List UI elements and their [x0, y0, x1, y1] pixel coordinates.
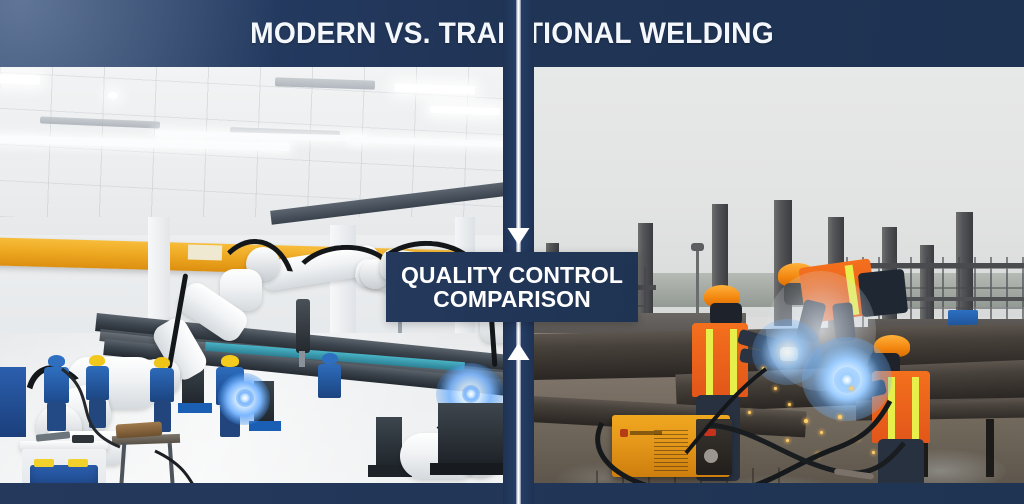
beam-support-stand — [376, 417, 402, 469]
welding-arc-core — [834, 367, 860, 393]
label-line-1: QUALITY CONTROL — [401, 263, 623, 287]
label-line-2: COMPARISON — [433, 287, 591, 311]
yellow-tool — [68, 459, 88, 467]
yellow-tool — [34, 459, 54, 467]
floor-cable — [60, 367, 180, 457]
floor-cable — [150, 447, 350, 483]
ceiling-light — [0, 74, 40, 85]
worker-torso — [318, 364, 341, 398]
girder-support-leg — [986, 419, 994, 477]
robot-welding-torch-tip — [299, 351, 305, 367]
site-light-head — [691, 243, 704, 251]
blue-hard-hat — [48, 355, 65, 367]
ceiling-light — [108, 92, 118, 99]
quality-control-label: QUALITY CONTROL COMPARISON — [386, 252, 638, 322]
vest-reflective-stripe — [912, 377, 919, 439]
robot-welding-torch — [296, 299, 310, 353]
welder-face-shield — [710, 303, 742, 325]
comparison-graphic: QUALITY CONTROL COMPARISON MODERN VS. TR… — [0, 0, 1024, 504]
welding-arc-secondary-core — [462, 385, 480, 403]
arrow-down-icon — [504, 222, 533, 246]
dark-machine-base — [438, 403, 509, 465]
weld-spark — [850, 387, 853, 390]
blue-hard-hat — [322, 353, 338, 364]
yellow-hard-hat — [221, 355, 239, 367]
welding-arc-core — [236, 389, 254, 407]
blue-storage-bin — [30, 465, 98, 483]
dark-machine-foot — [430, 463, 509, 475]
yellow-hard-hat — [89, 355, 105, 366]
arrow-up-icon — [504, 342, 533, 366]
torch-lead — [666, 367, 786, 457]
blue-equipment-cabinet — [0, 367, 26, 437]
